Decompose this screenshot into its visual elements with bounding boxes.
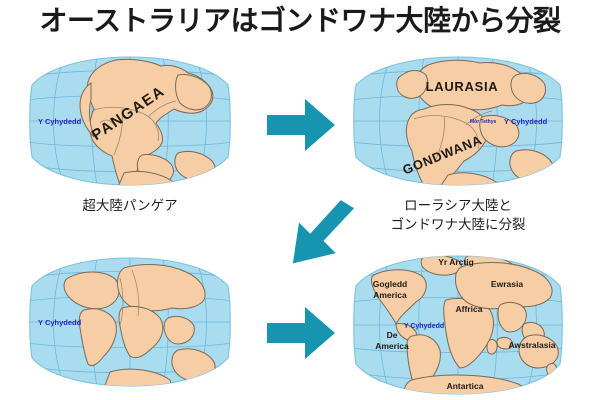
label-equator-3: Y Cyhydedd bbox=[38, 318, 82, 327]
arrow-down-left-icon bbox=[252, 192, 358, 268]
map-svg-present-day: Yr Arctig Gogledd America Ewrasia Affric… bbox=[352, 252, 564, 396]
map-laurasia-gondwana: LAURASIA GONDWANA Môr Tethys Y Cyhydedd bbox=[352, 55, 564, 187]
label-laurasia: LAURASIA bbox=[426, 79, 499, 94]
page-title: オーストラリアはゴンドワナ大陸から分裂 bbox=[0, 1, 600, 41]
map-svg-drifting: Y Cyhydedd bbox=[28, 256, 232, 388]
caption-line-2: ゴンドワナ大陸に分裂 bbox=[391, 217, 526, 232]
label-south-america-line2: America bbox=[375, 341, 409, 351]
globe-drifting: Y Cyhydedd bbox=[28, 256, 232, 388]
map-present-day: Yr Arctig Gogledd America Ewrasia Affric… bbox=[352, 252, 564, 396]
diagram-canvas: オーストラリアはゴンドワナ大陸から分裂 bbox=[0, 0, 600, 400]
caption-pangaea: 超大陸パンゲア bbox=[28, 196, 232, 215]
arrow-right-icon-2 bbox=[265, 303, 337, 363]
label-eurasia: Ewrasia bbox=[491, 279, 523, 289]
label-north-america-line2: America bbox=[373, 290, 407, 300]
map-drifting: Y Cyhydedd bbox=[28, 256, 232, 388]
label-antarctica: Antartica bbox=[447, 381, 484, 391]
label-equator-2: Y Cyhydedd bbox=[504, 117, 548, 126]
label-equator-4: Y Cyhydedd bbox=[404, 323, 444, 330]
globe-laurasia-gondwana: LAURASIA GONDWANA Môr Tethys Y Cyhydedd bbox=[352, 55, 564, 187]
label-australasia: Awstralasia bbox=[508, 340, 555, 350]
label-africa: Affrica bbox=[456, 304, 483, 314]
label-equator-1: Y Cyhydedd bbox=[38, 117, 82, 126]
label-south-america-line1: De bbox=[387, 330, 398, 340]
arrow-right-icon bbox=[265, 95, 337, 155]
label-arctic: Yr Arctig bbox=[438, 257, 474, 267]
label-tethys: Môr Tethys bbox=[470, 119, 497, 125]
map-svg-pangaea: PANGAEA Y Cyhydedd bbox=[28, 55, 232, 187]
map-svg-laurasia-gondwana: LAURASIA GONDWANA Môr Tethys Y Cyhydedd bbox=[352, 55, 564, 187]
globe-present-day: Yr Arctig Gogledd America Ewrasia Affric… bbox=[352, 252, 564, 396]
label-north-america-line1: Gogledd bbox=[373, 279, 407, 289]
arrow-laurasia-to-drifting bbox=[252, 192, 358, 268]
map-pangaea: PANGAEA Y Cyhydedd bbox=[28, 55, 232, 187]
caption-line-1: ローラシア大陸と bbox=[404, 198, 512, 213]
globe-pangaea: PANGAEA Y Cyhydedd bbox=[28, 55, 232, 187]
caption-laurasia-gondwana: ローラシア大陸とゴンドワナ大陸に分裂 bbox=[352, 196, 564, 234]
arrow-pangaea-to-laurasia bbox=[265, 95, 337, 155]
arrow-drifting-to-present bbox=[265, 303, 337, 363]
